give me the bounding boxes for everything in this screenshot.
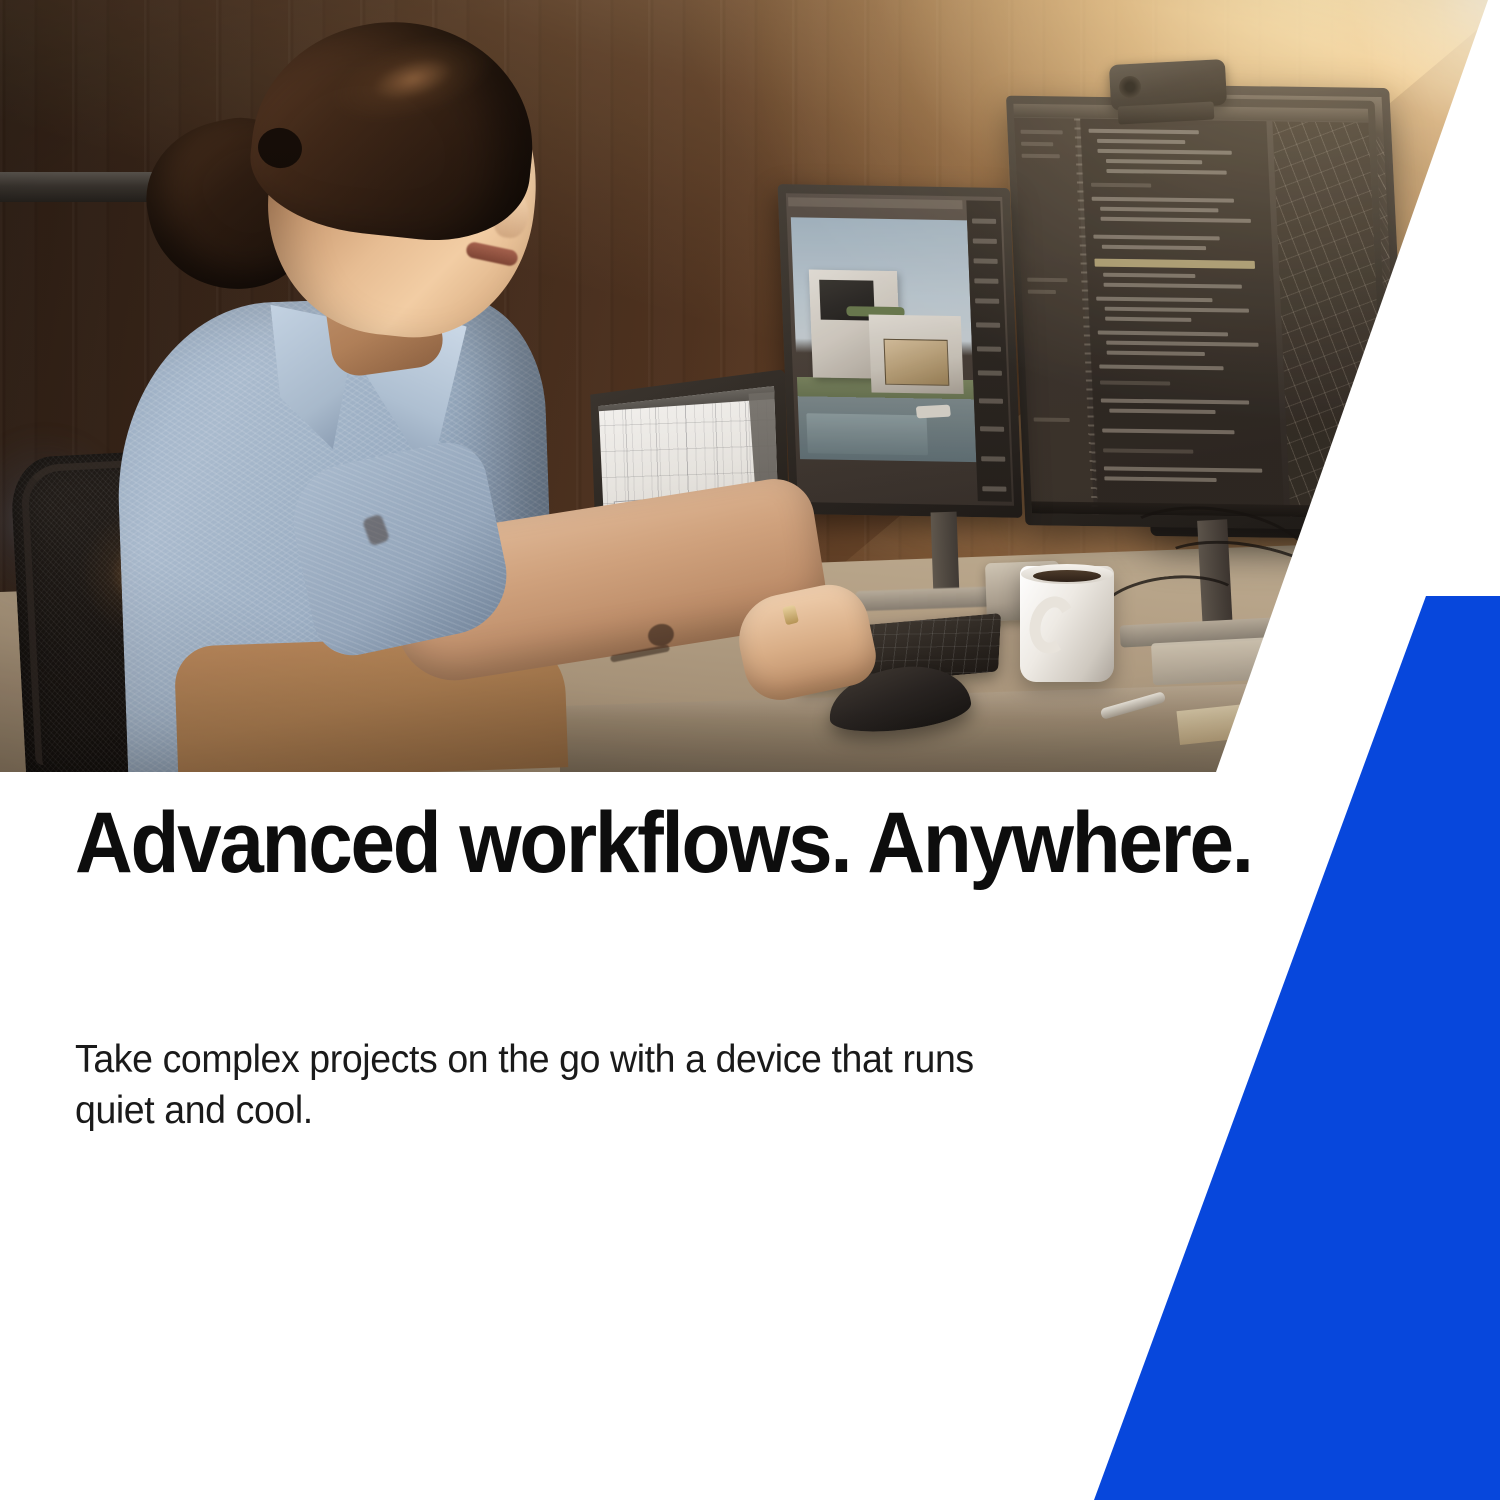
render-pool-lounger bbox=[916, 405, 951, 419]
marketing-poster: Advanced workflows. Anywhere. Take compl… bbox=[0, 0, 1500, 1500]
webcam-lens-icon bbox=[1118, 75, 1141, 98]
person bbox=[0, 0, 720, 772]
monitor-code-editor bbox=[1006, 96, 1394, 531]
monitor-render bbox=[778, 184, 1023, 518]
monitor-left-screen bbox=[786, 193, 1014, 506]
render-swimming-pool bbox=[806, 413, 928, 455]
mug-coffee-surface bbox=[1033, 570, 1101, 582]
architectural-render-image bbox=[791, 217, 977, 462]
render-glass-facade bbox=[884, 339, 950, 386]
copy-block: Advanced workflows. Anywhere. Take compl… bbox=[75, 800, 1155, 1136]
monitor-right-screen bbox=[1013, 104, 1386, 519]
monitor-left-stand-neck bbox=[931, 512, 960, 597]
preview-wireframe bbox=[1272, 121, 1386, 518]
hero-photo bbox=[0, 0, 1500, 772]
editor-preview-panel bbox=[1272, 121, 1386, 518]
page-title: Advanced workflows. Anywhere. bbox=[75, 800, 1079, 886]
editor-code-area bbox=[1080, 119, 1284, 517]
render-app-toolbar bbox=[788, 197, 963, 209]
mousepad bbox=[1151, 637, 1283, 686]
subheadline: Take complex projects on the go with a d… bbox=[75, 1034, 997, 1136]
